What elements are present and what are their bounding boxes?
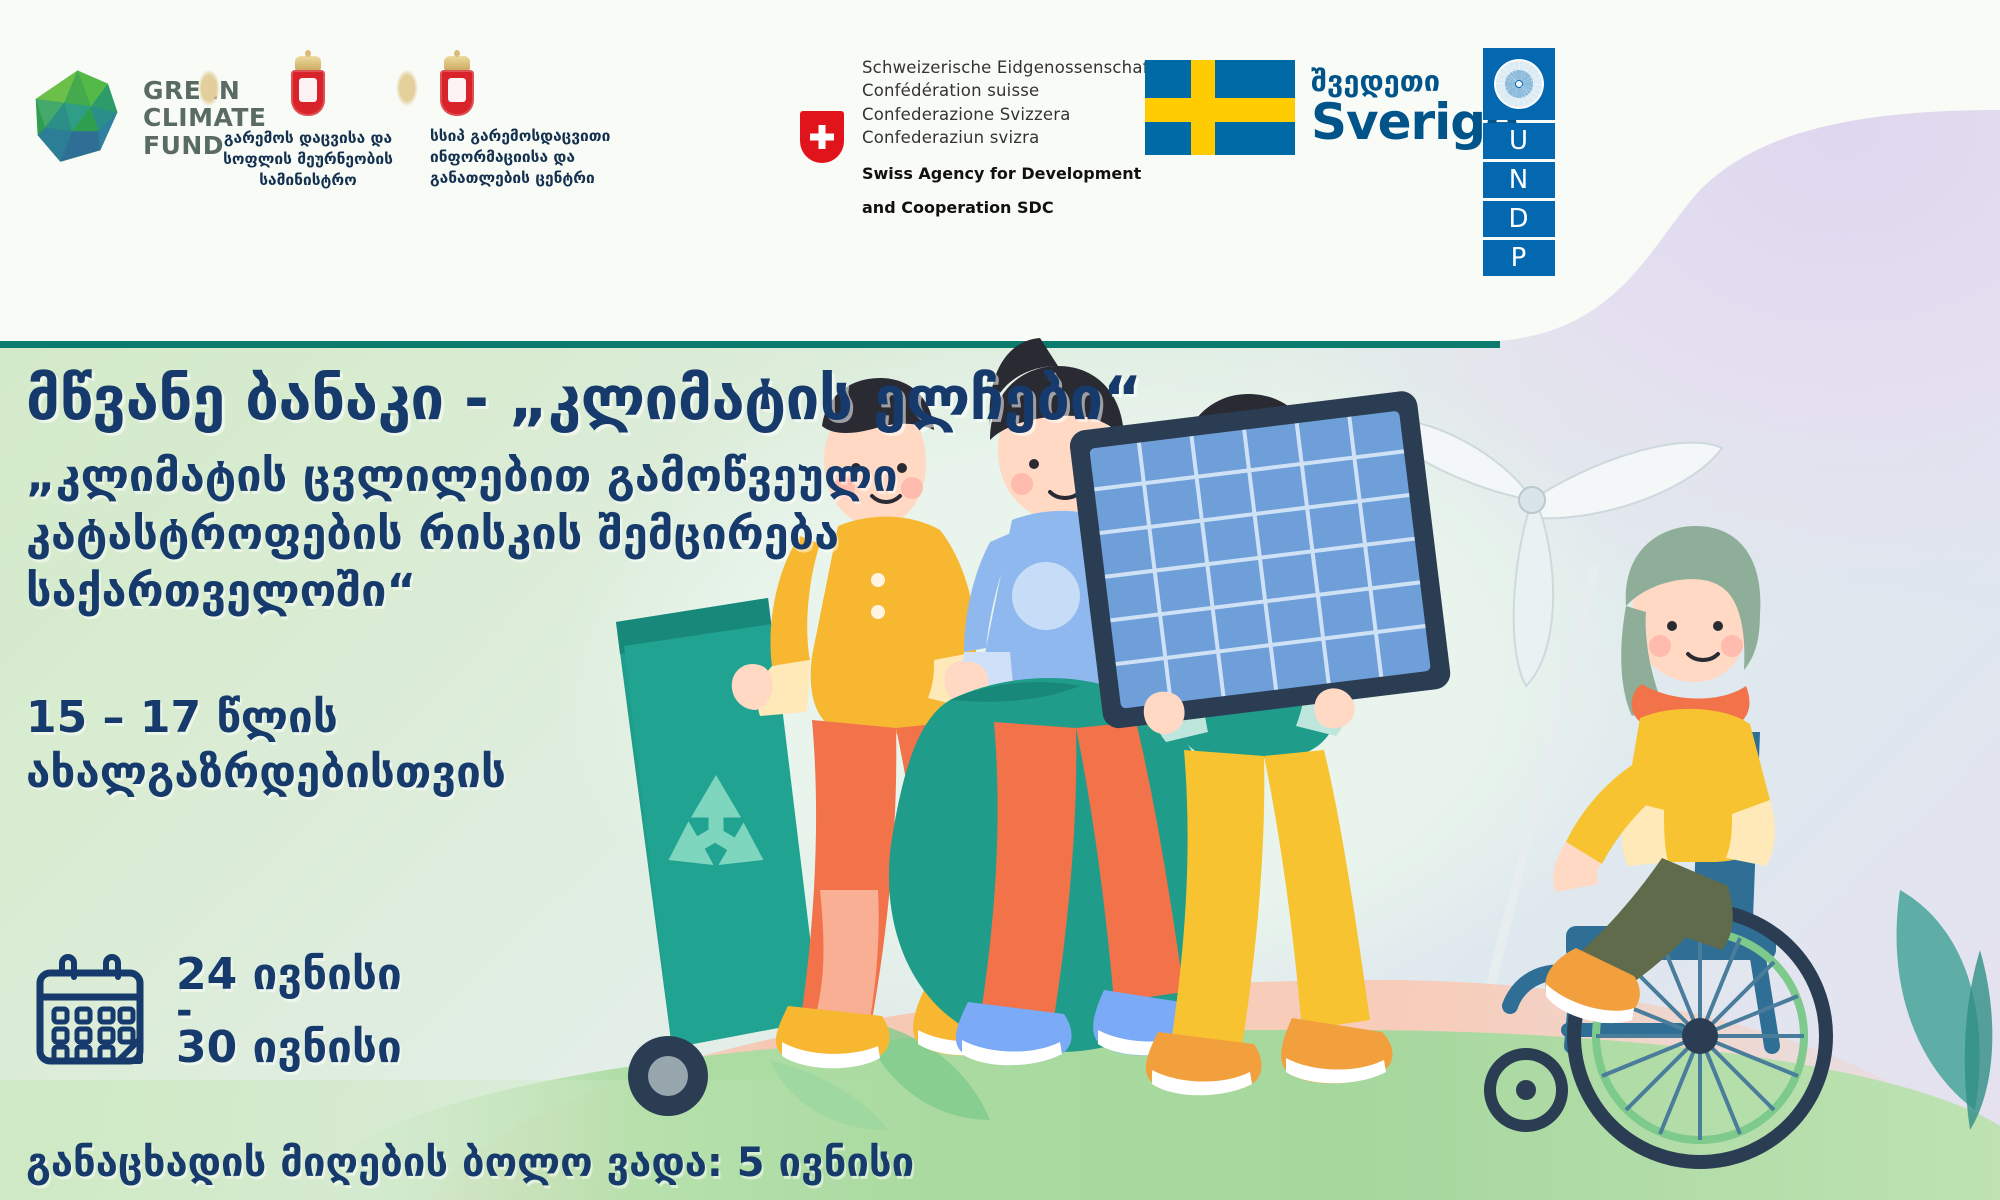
page-subtitle: „კლიმატის ცვლილებით გამოწვეული კატასტროფ… [26,447,1046,620]
age-line-2: ახალგაზრდებისთვის [26,745,1206,800]
info-centre-caption: სსიპ გარემოსდაცვითი ინფორმაციისა და განა… [430,126,630,189]
un-emblem-icon [1483,48,1555,120]
sdc-line-1: Swiss Agency for Development [862,163,1155,185]
swiss-cross-icon [800,111,844,163]
undp-letter-p: P [1483,240,1555,276]
event-date-start: 24 ივნისი [176,950,402,999]
sweden-logo: შვედეთი Sverige [1145,60,1518,155]
calendar-icon [30,951,150,1071]
sdc-line-2: and Cooperation SDC [862,197,1155,219]
heraldic-lion-right-icon [394,70,420,110]
heraldic-lion-left-icon [196,70,222,110]
application-deadline: განაცხადის მიღების ბოლო ვადა: 5 ივნისი [26,1140,914,1186]
ministry-caption: გარემოს დაცვისა და სოფლის მეურნეობის სამ… [208,128,408,191]
georgia-coat-of-arms-icon [285,56,331,120]
swiss-line-it: Confederazione Svizzera [862,103,1155,126]
age-requirement: 15 – 17 წლის ახალგაზრდებისთვის [26,690,1206,801]
page-title: მწვანე ბანაკი - „კლიმატის ელჩები“ [26,368,1206,431]
undp-letter-n: N [1483,162,1555,198]
swiss-line-de: Schweizerische Eidgenossenschaft [862,56,1155,79]
subtitle-line-2: კატასტროფების რისკის შემცირება [26,505,1046,563]
gcf-polygon-icon [30,68,125,168]
subtitle-line-3: საქართველოში“ [26,562,1046,620]
ministry-logo: გარემოს დაცვისა და სოფლის მეურნეობის სამ… [218,56,398,191]
georgia-coat-of-arms-icon [434,56,480,120]
undp-letter-u: U [1483,123,1555,159]
event-date-end: 30 ივნისი [176,1023,402,1072]
poster-root: GREEN CLIMATE FUND გარემოს დაცვისა და სო… [0,0,2000,1200]
headline-block: მწვანე ბანაკი - „კლიმატის ელჩები“ „კლიმა… [26,368,1206,801]
subtitle-line-1: „კლიმატის ცვლილებით გამოწვეული [26,447,1046,505]
age-line-1: 15 – 17 წლის [26,690,1206,745]
partner-logos-row: GREEN CLIMATE FUND გარემოს დაცვისა და სო… [0,48,1700,188]
sweden-flag-icon [1145,60,1295,155]
event-date-separator: - [176,999,402,1023]
info-centre-logo: სსიპ გარემოსდაცვითი ინფორმაციისა და განა… [430,56,630,189]
swiss-line-rm: Confederaziun svizra [862,126,1155,149]
swiss-line-fr: Confédération suisse [862,79,1155,102]
undp-logo: U N D P [1483,48,1555,276]
swiss-sdc-logo: Schweizerische Eidgenossenschaft Confédé… [800,56,1155,219]
event-dates-block: 24 ივნისი - 30 ივნისი [30,950,402,1073]
undp-letter-d: D [1483,201,1555,237]
